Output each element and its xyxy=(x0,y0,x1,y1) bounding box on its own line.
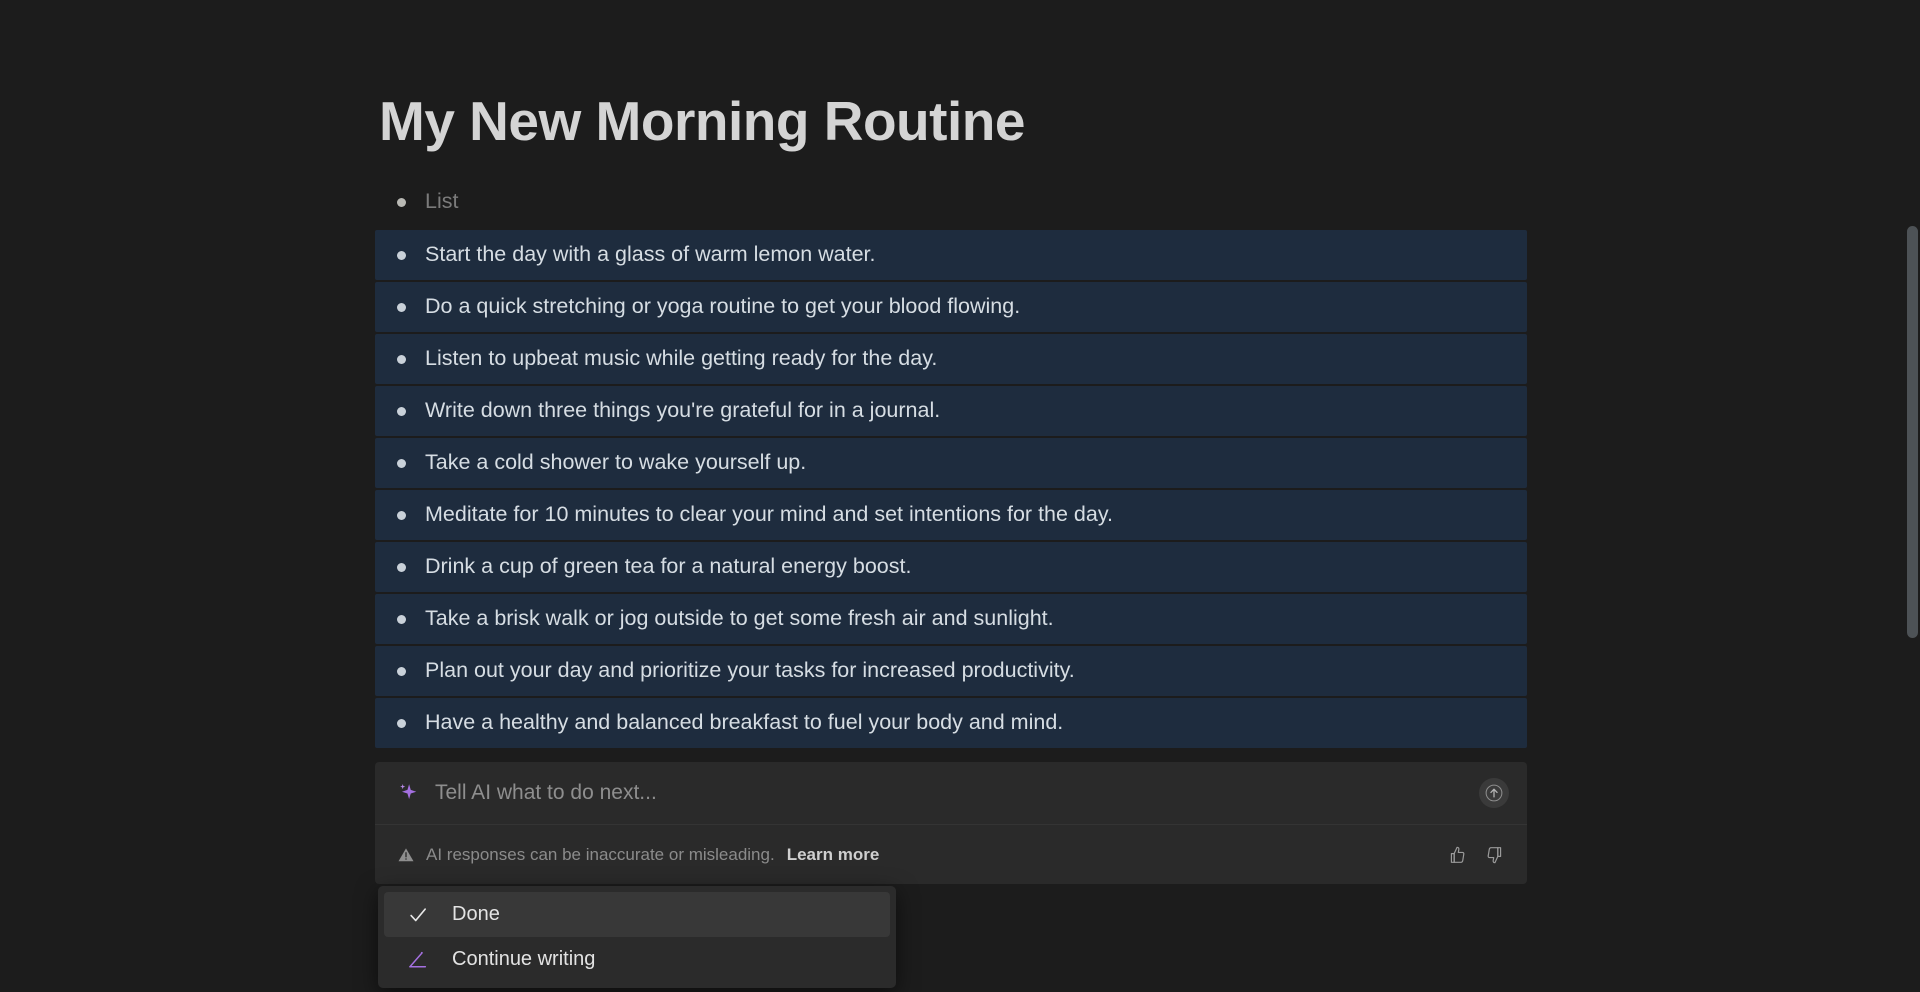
list-item-label: Take a brisk walk or jog outside to get … xyxy=(425,605,1054,633)
bullet-icon xyxy=(397,407,406,416)
scrollbar-thumb[interactable] xyxy=(1907,226,1918,638)
editor-page: My New Morning Routine List Start the da… xyxy=(0,0,1920,992)
list-item-label: Take a cold shower to wake yourself up. xyxy=(425,449,806,477)
bullet-list: List Start the day with a glass of warm … xyxy=(375,182,1527,750)
ai-disclaimer-row: AI responses can be inaccurate or mislea… xyxy=(375,824,1527,884)
thumbs-down-icon[interactable] xyxy=(1483,842,1509,868)
scrollbar-track[interactable] xyxy=(1905,0,1920,992)
bullet-icon xyxy=(397,511,406,520)
list-item[interactable]: Have a healthy and balanced breakfast to… xyxy=(375,698,1527,748)
bullet-icon xyxy=(397,563,406,572)
list-item[interactable]: Start the day with a glass of warm lemon… xyxy=(375,230,1527,280)
list-item-label: Start the day with a glass of warm lemon… xyxy=(425,241,876,269)
pencil-icon xyxy=(406,948,430,972)
list-item[interactable]: Do a quick stretching or yoga routine to… xyxy=(375,282,1527,332)
bullet-icon xyxy=(397,459,406,468)
menu-item-continue-writing[interactable]: Continue writing xyxy=(384,937,890,982)
list-item-label: Do a quick stretching or yoga routine to… xyxy=(425,293,1020,321)
thumbs-up-icon[interactable] xyxy=(1443,842,1469,868)
ai-assistant-panel: Tell AI what to do next... AI responses … xyxy=(375,762,1527,884)
bullet-icon xyxy=(397,303,406,312)
ai-actions-dropdown: Done Continue writing xyxy=(378,886,896,988)
list-item[interactable]: Write down three things you're grateful … xyxy=(375,386,1527,436)
bullet-icon xyxy=(397,667,406,676)
list-item[interactable]: Take a cold shower to wake yourself up. xyxy=(375,438,1527,488)
list-item-label: Listen to upbeat music while getting rea… xyxy=(425,345,937,373)
page-title[interactable]: My New Morning Routine xyxy=(379,90,1025,153)
menu-item-label: Continue writing xyxy=(452,948,595,971)
ai-prompt-input[interactable]: Tell AI what to do next... xyxy=(435,781,1479,805)
menu-item-done[interactable]: Done xyxy=(384,892,890,937)
ai-disclaimer-text: AI responses can be inaccurate or mislea… xyxy=(426,845,775,865)
list-item[interactable]: Listen to upbeat music while getting rea… xyxy=(375,334,1527,384)
sparkle-icon xyxy=(397,782,419,804)
list-item-label: Have a healthy and balanced breakfast to… xyxy=(425,709,1063,737)
bullet-icon xyxy=(397,719,406,728)
send-button[interactable] xyxy=(1479,778,1509,808)
bullet-icon xyxy=(397,355,406,364)
list-item[interactable]: Plan out your day and prioritize your ta… xyxy=(375,646,1527,696)
list-item-label: Meditate for 10 minutes to clear your mi… xyxy=(425,501,1113,529)
bullet-icon xyxy=(397,615,406,624)
learn-more-link[interactable]: Learn more xyxy=(787,845,880,865)
list-item[interactable]: Meditate for 10 minutes to clear your mi… xyxy=(375,490,1527,540)
warning-triangle-icon xyxy=(397,846,415,864)
check-icon xyxy=(406,903,430,927)
list-item-label: Plan out your day and prioritize your ta… xyxy=(425,657,1075,685)
bullet-icon xyxy=(397,251,406,260)
list-item[interactable]: Drink a cup of green tea for a natural e… xyxy=(375,542,1527,592)
list-item-label: List xyxy=(425,188,458,216)
list-item-label: Write down three things you're grateful … xyxy=(425,397,940,425)
list-item-label: Drink a cup of green tea for a natural e… xyxy=(425,553,911,581)
list-item[interactable]: Take a brisk walk or jog outside to get … xyxy=(375,594,1527,644)
bullet-icon xyxy=(397,198,406,207)
menu-item-label: Done xyxy=(452,903,500,926)
list-item-placeholder[interactable]: List xyxy=(375,182,1527,222)
ai-prompt-row[interactable]: Tell AI what to do next... xyxy=(375,762,1527,824)
